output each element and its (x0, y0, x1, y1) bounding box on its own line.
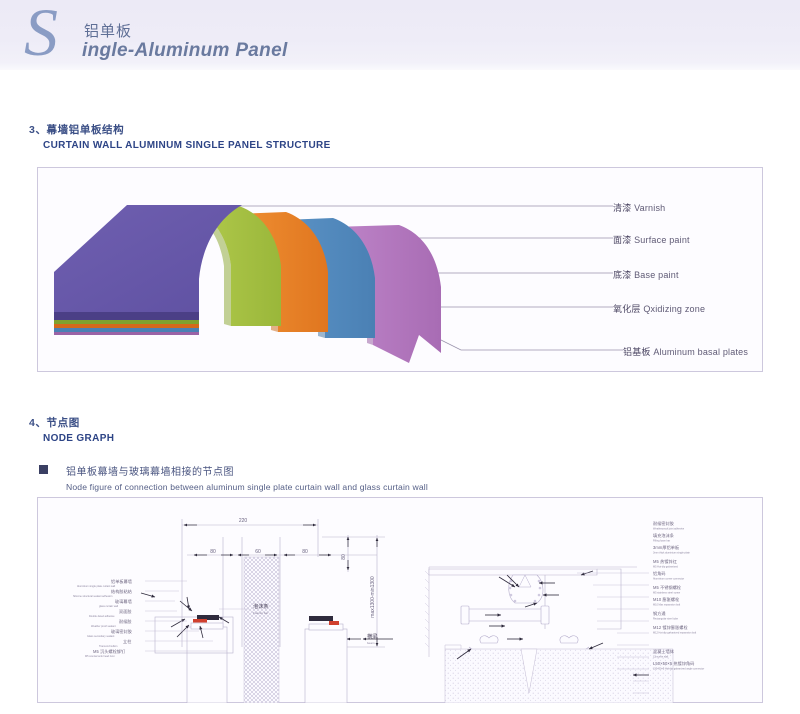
subsection-heading: 铝单板幕墙与玻璃幕墙相接的节点图 Node figure of connecti… (66, 463, 428, 492)
callout-foam-bar-en: Foamin bar (253, 611, 268, 615)
right-callout-en-9: Concrete wall (653, 656, 669, 659)
foam-bar-left (193, 619, 207, 623)
right-callout-en-1: Filling foam bar (653, 540, 670, 543)
right-callout-en-6: M10 Max expansion bolt (653, 604, 680, 607)
dimension-max-min: max1300-min1300 (370, 576, 376, 618)
layer-label-base-paint: 底漆 Base paint (613, 268, 679, 281)
foam-bar-right (329, 621, 339, 625)
left-callout-en-1: Silicone structural sealant adhesion (73, 595, 113, 598)
left-callout-en-3: Double-faced adhesive (89, 615, 115, 618)
dimension-60: 60 (255, 549, 261, 555)
brand-title-cn: 铝单板 (84, 20, 132, 41)
right-callout-en-7: Rectangular steel tube (653, 618, 679, 621)
brand-lockup: S 铝单板 ingle-Aluminum Panel (24, 4, 444, 70)
left-callout-en-6: Transom/mullion (99, 645, 118, 648)
right-callout-cn-0: 耐候密封胶 (653, 520, 674, 526)
left-callout-en-5: Glass secondary sealant (87, 635, 115, 638)
subsection-title-cn: 铝单板幕墙与玻璃幕墙相接的节点图 (66, 463, 428, 478)
dimension-80-a: 80 (210, 549, 216, 555)
left-callout-cn-1: 结构胶粘结 (111, 588, 132, 594)
section-3-title-en: CURTAIN WALL ALUMINUM SINGLE PANEL STRUC… (43, 140, 331, 151)
right-callout-cn-4: 铝角码 (653, 570, 666, 576)
callout-foam-bar-cn: 泡沫条 (253, 602, 269, 610)
right-callout-en-4: Aluminium corner connector (653, 578, 684, 581)
right-callout-cn-7: 钢方通 (653, 610, 666, 616)
right-callout-cn-8: M12 镀锌膨胀螺栓 (653, 624, 688, 630)
callout-beam: 横梁 beam (347, 632, 393, 645)
section-3-heading: 3、幕墙铝单板结构 CURTAIN WALL ALUMINUM SINGLE P… (29, 122, 331, 151)
right-callout-en-3: M5 Hot-dip galvanized (653, 566, 678, 569)
section-3-title-cn: 3、幕墙铝单板结构 (29, 122, 331, 137)
right-callout-cn-10: L50×50×5 热镀锌角码 (653, 660, 694, 666)
callout-beam-en: beam (367, 641, 375, 645)
layer-label-surface-paint: 面漆 Surface paint (613, 233, 690, 246)
left-callout-cn-3: 双面胶 (119, 608, 132, 614)
sealant-right (309, 616, 333, 621)
callout-beam-cn: 横梁 (367, 632, 377, 640)
left-callout-en-4: Weather proof sealant (91, 625, 116, 628)
left-callout-en-7: M5 countersunk head rivet (85, 655, 115, 658)
brand-title-en: ingle-Aluminum Panel (82, 40, 288, 62)
right-callout-cn-6: M10 膨胀螺栓 (653, 596, 679, 602)
left-callout-list: 铝单板幕墙 Aluminium single plate curtain wal… (73, 578, 132, 658)
section-4-title-en: NODE GRAPH (43, 433, 114, 444)
layer-label-oxidizing-zone: 氧化层 Qxidizing zone (613, 302, 705, 315)
layer-label-varnish: 清漆 Varnish (613, 201, 665, 214)
right-callout-en-10: L50×50×5 Hot-dip galvanized angle connec… (653, 668, 704, 671)
right-callout-cn-5: M5 不锈钢螺栓 (653, 584, 681, 590)
dimension-220: 220 (239, 518, 248, 524)
left-callout-cn-4: 耐候胶 (119, 618, 132, 624)
left-callout-cn-0: 铝单板幕墙 (111, 578, 132, 584)
right-callout-en-0: Weatherproof joint adhesive (653, 528, 685, 531)
node-graph-drawing: 220 80 60 80 80 max1300-min1300 (37, 497, 763, 703)
left-callout-en-0: Aluminium single plate curtain wall (77, 585, 116, 588)
right-callout-en-2: 3mm thick aluminium single plate (653, 552, 690, 555)
right-callout-list: 耐候密封胶 Weatherproof joint adhesive 填充泡沫条 … (653, 520, 704, 671)
brand-drop-cap: S (24, 0, 56, 66)
right-callout-cn-1: 填充泡沫条 (653, 532, 674, 538)
layer-label-aluminum-basal-plates: 铝基板 Aluminum basal plates (623, 345, 748, 358)
left-callout-cn-5: 玻璃密封胶 (111, 628, 132, 634)
right-callout-cn-2: 3mm厚铝单板 (653, 544, 679, 550)
right-callout-en-8: M12 Hot-dip galvanized expansion bolt (653, 632, 696, 635)
bullet-square-icon (39, 465, 48, 474)
section-4-title-cn: 4、节点图 (29, 415, 114, 430)
left-callout-cn-6: 立柱 (123, 638, 131, 644)
right-callout-cn-9: 混凝土墙体 (653, 648, 674, 654)
left-callout-cn-7: M5 沉头螺栓铆钉 (93, 648, 125, 654)
right-callout-en-5: M5 stainless steel screw (653, 592, 680, 595)
left-callout-cn-2: 玻璃幕墙 (115, 598, 132, 604)
section-4-heading: 4、节点图 NODE GRAPH (29, 415, 114, 444)
header-band: S 铝单板 ingle-Aluminum Panel (0, 0, 800, 71)
left-callout-en-2: glass curtain wall (99, 605, 118, 608)
glass-panel-hatch (244, 557, 279, 703)
dimension-80-c: 80 (341, 554, 347, 560)
subsection-title-en: Node figure of connection between alumin… (66, 482, 428, 492)
right-callout-cn-3: M5 热镀锌红 (653, 558, 677, 564)
dimension-80-b: 80 (302, 549, 308, 555)
